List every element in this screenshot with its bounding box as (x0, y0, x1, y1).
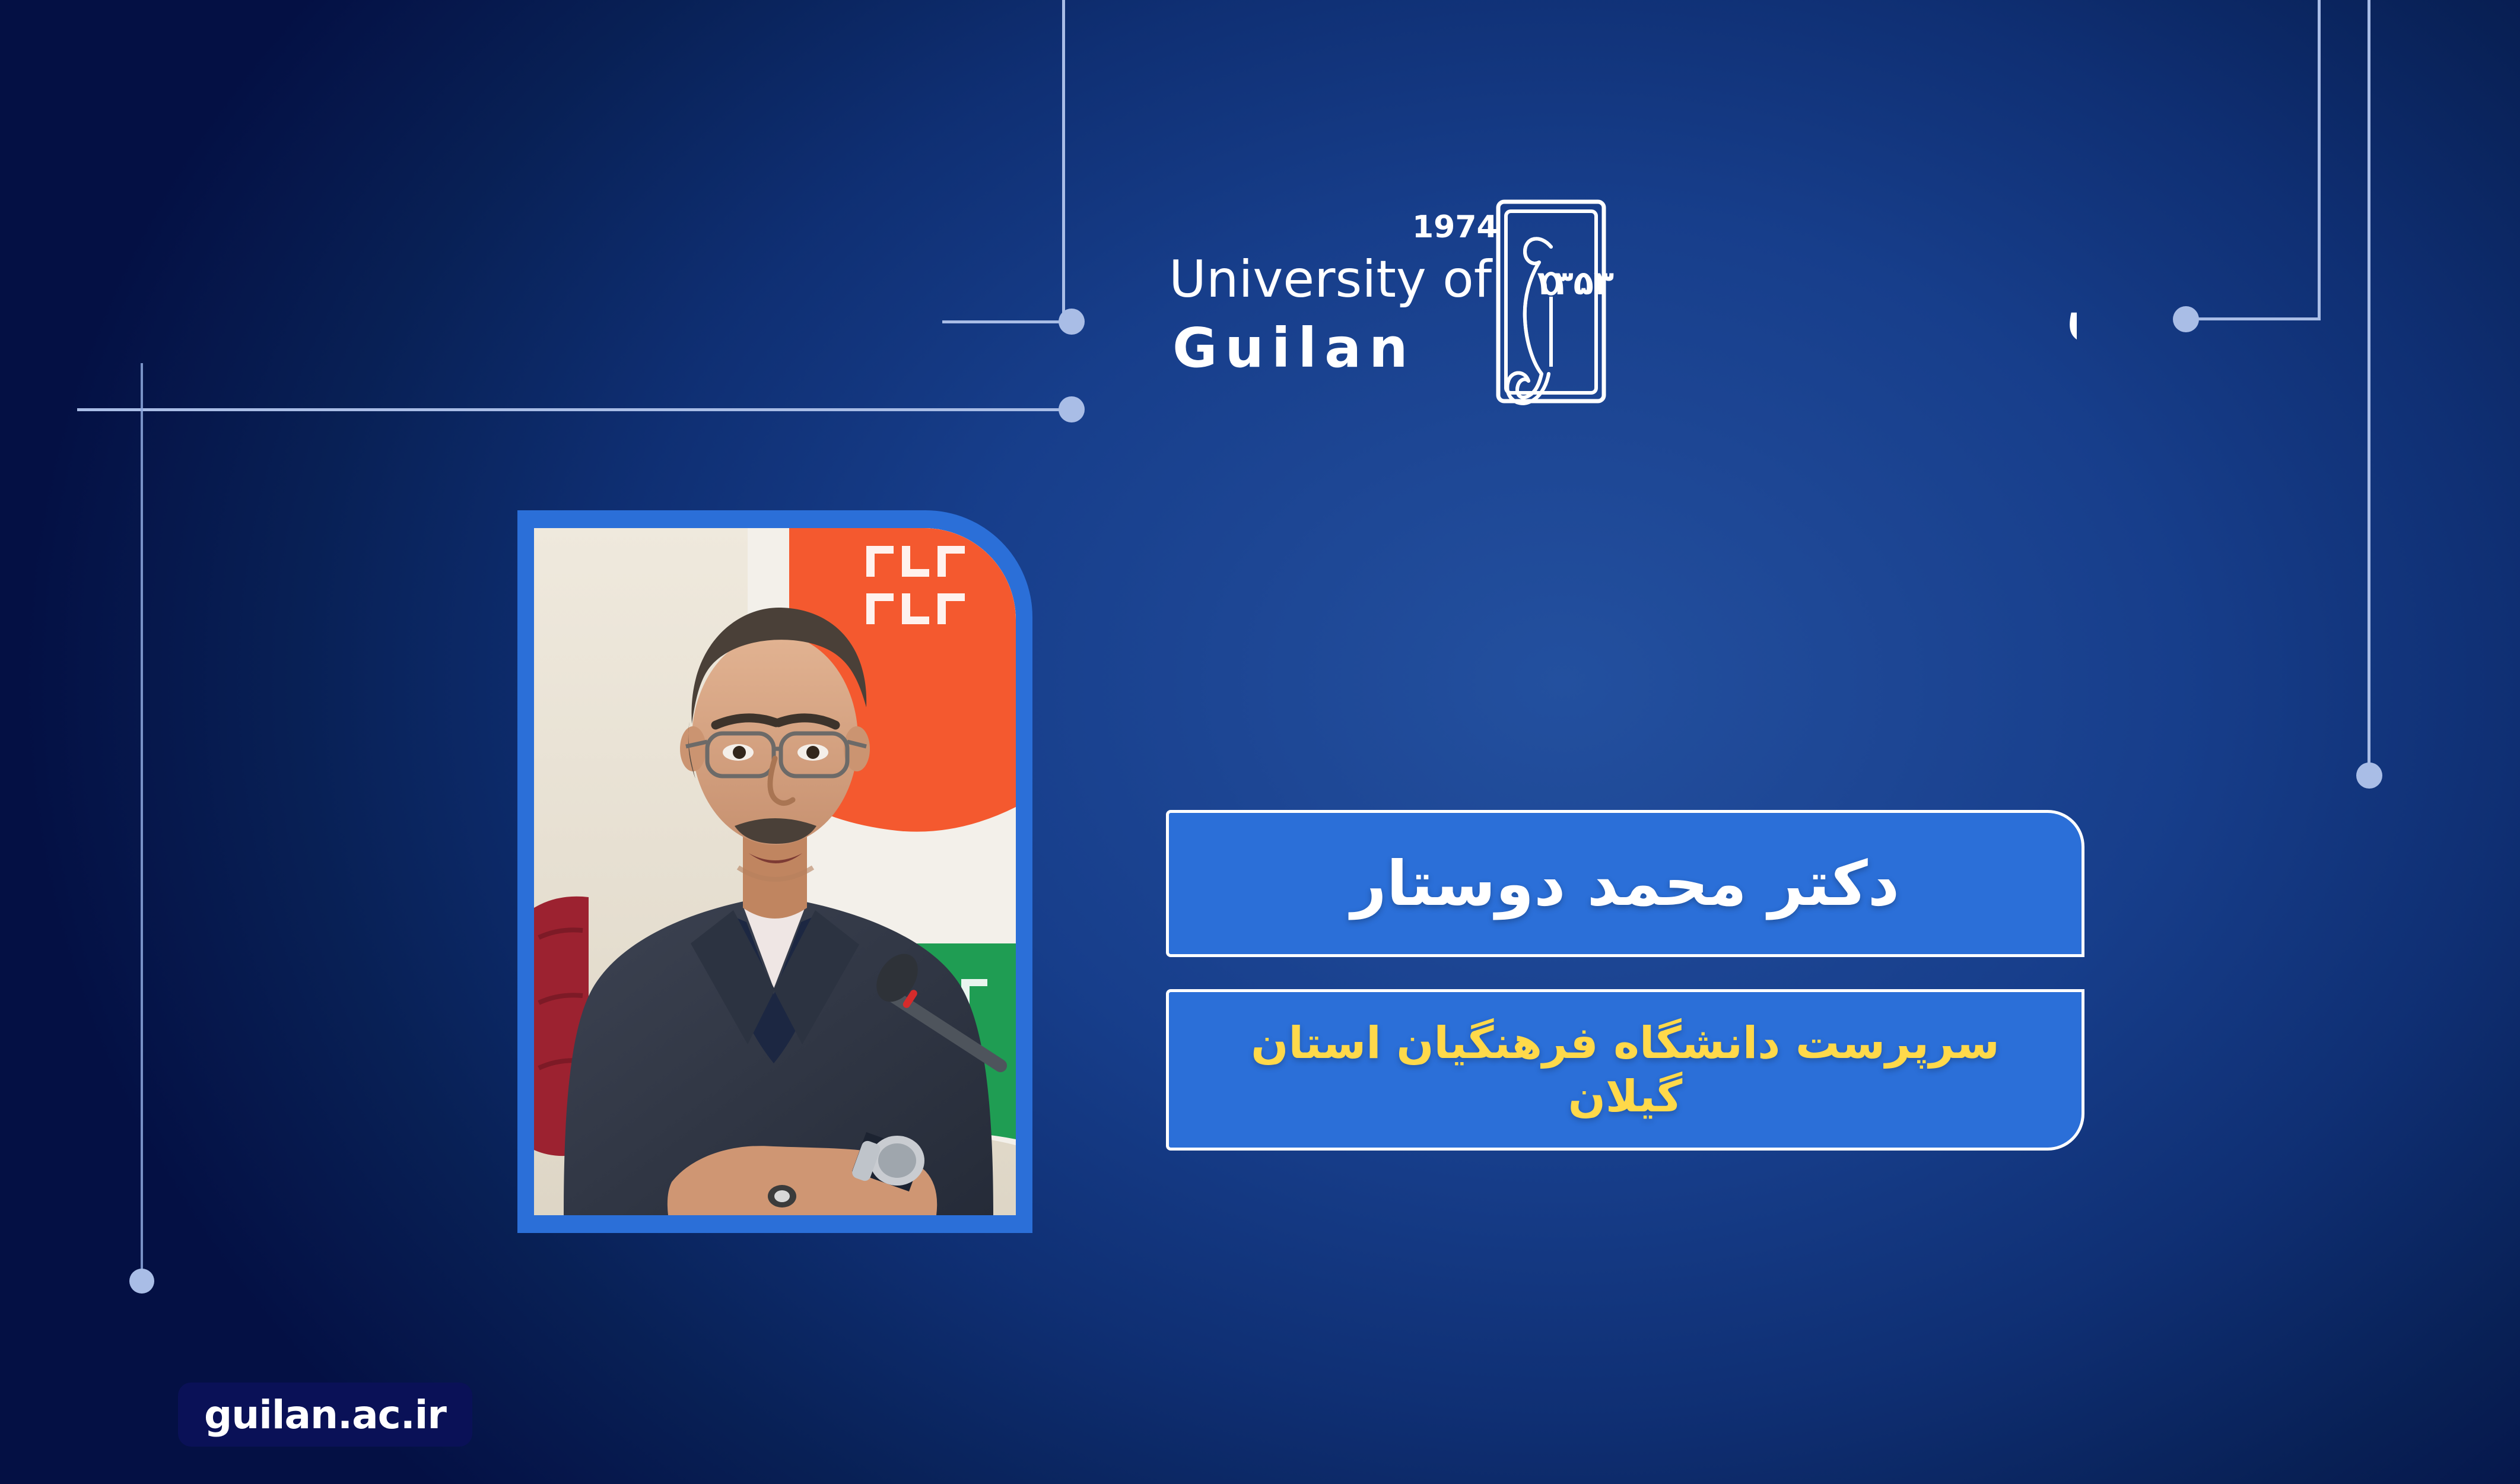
deco-dot-far-right (2356, 762, 2382, 789)
person-title-text: سرپرست دانشگاه فرهنگیان استان گیلان (1189, 1016, 2061, 1124)
portrait-frame (517, 510, 1032, 1233)
person-title-banner: سرپرست دانشگاه فرهنگیان استان گیلان (1166, 989, 2084, 1151)
deco-line-right-horizontal (2181, 317, 2320, 320)
deco-line-left-vertical-long (141, 363, 143, 1277)
deco-dot-right (2173, 306, 2199, 332)
poster-canvas: University of Guilan 1974 ۱۳۵۳ دانشگاه گ… (0, 0, 2520, 1484)
logo-persian-name: دانشگاه گیلان (2065, 259, 2077, 350)
deco-dot-mid-left (1059, 396, 1085, 422)
deco-line-mid-left-horizontal (77, 408, 1067, 411)
deco-dot-bottom-left (129, 1269, 154, 1294)
portrait-photo (534, 528, 1016, 1215)
person-name-banner: دکتر محمد دوستار (1166, 810, 2084, 957)
deco-line-top-left-vertical (1062, 0, 1065, 323)
university-of-guilan-logo: University of Guilan 1974 ۱۳۵۳ دانشگاه گ… (1163, 178, 2077, 427)
deco-line-right-vertical (2318, 0, 2321, 320)
deco-line-far-right-vertical (2368, 0, 2370, 771)
deco-dot-top-left (1059, 309, 1085, 335)
logo-english-line1: University of (1169, 250, 1493, 309)
logo-year-gregorian: 1974 (1412, 209, 1498, 245)
logo-english-line2: Guilan (1172, 316, 1416, 380)
deco-line-top-left-horizontal (942, 320, 1064, 323)
website-url-badge[interactable]: guilan.ac.ir (178, 1383, 472, 1447)
person-name-text: دکتر محمد دوستار (1351, 846, 1899, 921)
website-url-text: guilan.ac.ir (204, 1392, 446, 1438)
logo-year-persian: ۱۳۵۳ (1533, 264, 1614, 303)
